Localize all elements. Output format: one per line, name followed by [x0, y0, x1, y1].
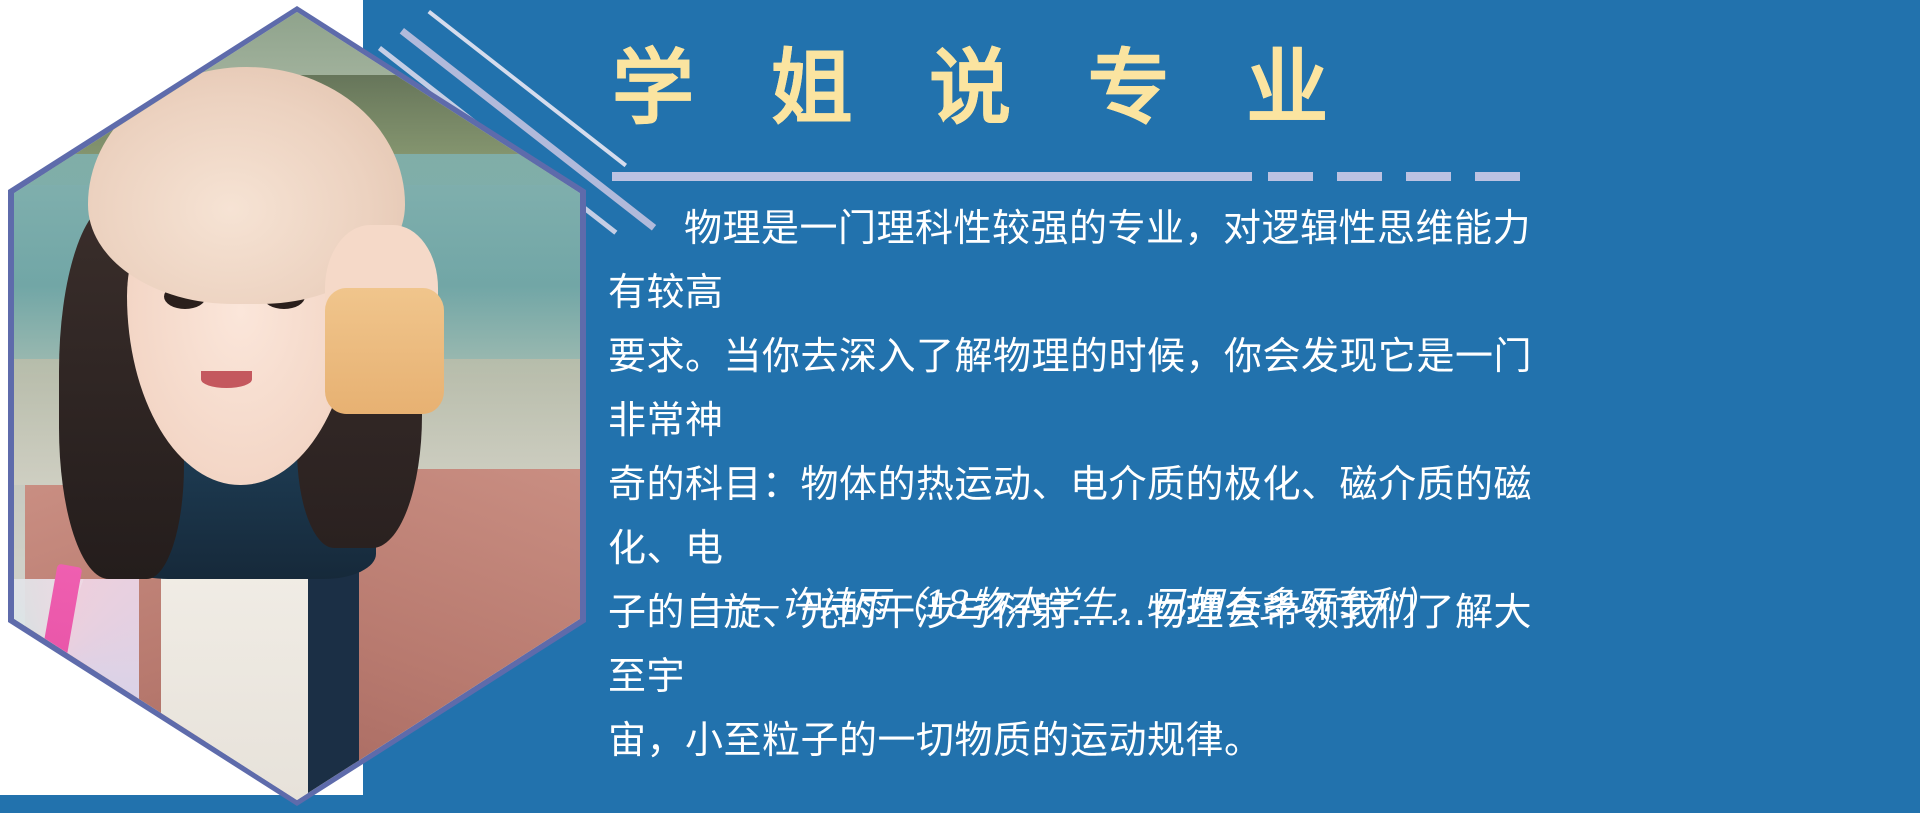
- body-paragraph: 物理是一门理科性较强的专业，对逻辑性思维能力有较高 要求。当你去深入了解物理的时…: [608, 196, 1538, 772]
- banner-root: 学 姐 说 专 业 物理是一门理科性较强的专业，对逻辑性思维能力有较高 要求。当…: [0, 0, 1920, 813]
- dash-segment: [1406, 172, 1451, 181]
- body-line: 物理是一门理科性较强的专业，对逻辑性思维能力有较高: [608, 196, 1538, 324]
- body-line: 奇的科目：物体的热运动、电介质的极化、磁介质的磁化、电: [608, 452, 1538, 580]
- body-line: 宙，小至粒子的一切物质的运动规律。: [608, 708, 1538, 772]
- hexagon-photo-clip: [14, 12, 580, 800]
- dash-segment: [1475, 172, 1520, 181]
- photo-glove: [325, 288, 444, 414]
- title-underline-rule: [612, 172, 1252, 181]
- photo-mouth: [201, 371, 252, 388]
- dash-segment: [1268, 172, 1313, 181]
- portrait-hexagon-frame: [8, 6, 586, 806]
- banner-title: 学 姐 说 专 业: [612, 48, 1352, 130]
- portrait-photo: [14, 12, 580, 800]
- dash-segment: [1337, 172, 1382, 181]
- body-line: 要求。当你去深入了解物理的时候，你会发现它是一门非常神: [608, 324, 1538, 452]
- title-dashed-rule: [1268, 172, 1520, 181]
- attribution-line: ——许诗雨（18物本学生，已拥有多项专利）: [608, 580, 1538, 632]
